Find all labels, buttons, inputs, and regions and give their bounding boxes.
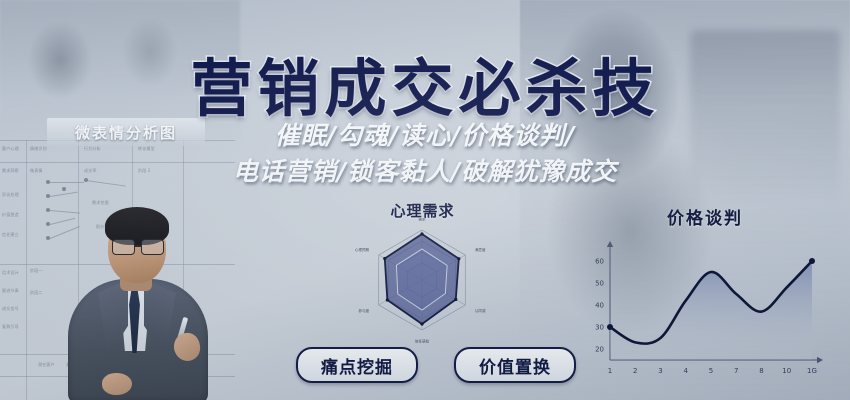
line-chart-end-point: [809, 258, 815, 264]
radar-axis-label: 认同感: [475, 308, 486, 313]
x-axis-tick-label: 3: [658, 367, 662, 375]
radar-chart: 心理需求 需求满意度认同感信任感知参与度心理预期: [330, 200, 515, 350]
x-axis-tick-label: 10: [782, 367, 791, 375]
radar-vertex: [454, 298, 457, 301]
line-chart-area: [610, 261, 812, 360]
y-axis-tick-label: 50: [595, 280, 604, 288]
y-axis-tick-label: 40: [595, 302, 604, 310]
x-axis-tick-label: 5: [709, 367, 713, 375]
subtitle-line-1: 催眠/勾魂/读心/价格谈判/: [0, 118, 850, 154]
page-title: 营销成交必杀技: [0, 38, 850, 128]
pill-button-value-exchange-label: 价值置换: [479, 353, 551, 378]
pill-button-pain-point[interactable]: 痛点挖掘: [296, 347, 418, 383]
radar-axis-label: 需求: [418, 218, 426, 221]
line-chart-start-point: [607, 324, 613, 330]
radar-axis-label: 参与度: [358, 308, 369, 313]
radar-vertex: [457, 257, 460, 260]
y-axis-tick-label: 60: [595, 258, 604, 266]
radar-vertex: [383, 257, 386, 260]
radar-vertex: [386, 298, 389, 301]
radar-chart-plot: 需求满意度认同感信任感知参与度心理预期: [330, 218, 515, 350]
radar-axis-label: 满意度: [475, 247, 486, 252]
presenter-figure: [62, 205, 212, 400]
line-chart-title: 价格谈判: [580, 204, 830, 229]
radar-vertex: [420, 322, 423, 325]
subtitle-line-2: 电话营销/锁客黏人/破解犹豫成交: [0, 154, 850, 190]
x-axis-tick-labels: 1234578101G: [608, 367, 817, 375]
x-axis-tick-label: 7: [734, 367, 738, 375]
pill-button-pain-point-label: 痛点挖掘: [321, 353, 393, 378]
pill-button-row: 痛点挖掘 价值置换: [296, 347, 576, 383]
radar-axis-label: 心理预期: [355, 247, 370, 252]
x-axis-tick-label: 2: [633, 367, 637, 375]
y-axis-tick-label: 20: [595, 346, 604, 354]
line-chart-plot: 6050403020 1234578101G: [580, 228, 830, 388]
y-axis-tick-labels: 6050403020: [595, 258, 604, 354]
y-axis-tick-label: 30: [595, 324, 604, 332]
radar-vertex: [420, 232, 423, 235]
x-axis-tick-label: 1G: [807, 367, 817, 375]
line-chart: 价格谈判 6050403020 1234578101G: [580, 200, 830, 390]
x-axis-tick-label: 1: [608, 367, 612, 375]
pill-button-value-exchange[interactable]: 价值置换: [454, 347, 576, 383]
presenter-glasses: [111, 239, 165, 254]
x-axis-tick-label: 4: [684, 367, 689, 375]
subtitle-block: 催眠/勾魂/读心/价格谈判/ 电话营销/锁客黏人/破解犹豫成交: [0, 118, 850, 190]
presenter-hand-left: [102, 373, 132, 395]
marketing-banner: 客户心理 情绪识别 行为分析 转化模型 需求洞察 微表情 成交率 阶段 2 异议…: [0, 0, 850, 400]
x-axis-tick-label: 8: [759, 367, 763, 375]
radar-axis-label: 信任感知: [415, 338, 430, 343]
